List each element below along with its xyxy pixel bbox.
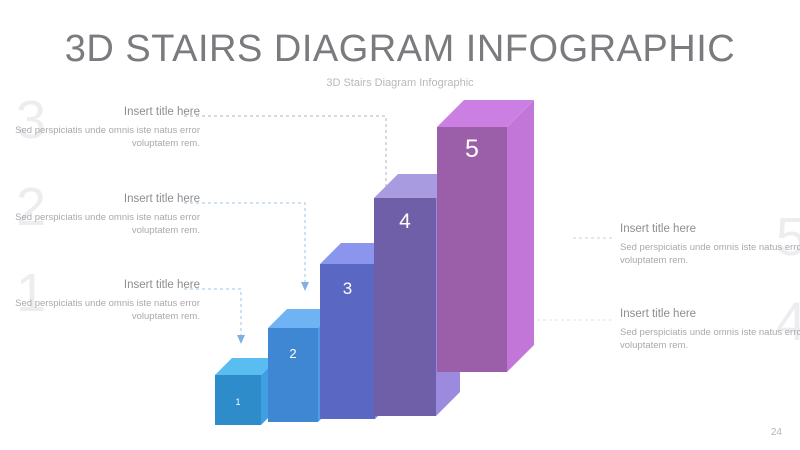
callout-title-2: Insert title here (10, 192, 200, 206)
bar-2-number: 2 (289, 346, 296, 361)
bar-5-left-face (437, 127, 507, 372)
page-number: 24 (771, 427, 782, 438)
callout-right-4[interactable]: 4 Insert title here Sed perspiciatis und… (620, 307, 800, 352)
callout-title-4: Insert title here (620, 307, 800, 321)
callout-title-3: Insert title here (10, 105, 200, 119)
bar-3-number: 3 (343, 279, 352, 298)
callout-description-4: Sed perspiciatis unde omnis iste natus e… (620, 326, 800, 352)
bar-5-number: 5 (465, 135, 479, 163)
bar-2-left-face (268, 328, 318, 422)
callout-left-1[interactable]: 1 Insert title here Sed perspiciatis und… (10, 278, 200, 323)
callout-description-1: Sed perspiciatis unde omnis iste natus e… (10, 297, 200, 323)
callout-left-2[interactable]: 2 Insert title here Sed perspiciatis und… (10, 192, 200, 237)
bar-1-number: 1 (235, 397, 240, 407)
slide-canvas: 3D STAIRS DIAGRAM INFOGRAPHIC 3D Stairs … (0, 0, 800, 450)
callout-right-5[interactable]: 5 Insert title here Sed perspiciatis und… (620, 222, 800, 267)
bar-5-right-face (507, 100, 534, 372)
callout-title-1: Insert title here (10, 278, 200, 292)
callout-description-3: Sed perspiciatis unde omnis iste natus e… (10, 124, 200, 150)
callout-description-5: Sed perspiciatis unde omnis iste natus e… (620, 241, 800, 267)
callout-description-2: Sed perspiciatis unde omnis iste natus e… (10, 211, 200, 237)
bar-5[interactable]: 5 (437, 100, 534, 372)
callout-title-5: Insert title here (620, 222, 800, 236)
bar-4-number: 4 (399, 210, 411, 233)
callout-left-3[interactable]: 3 Insert title here Sed perspiciatis und… (10, 105, 200, 150)
